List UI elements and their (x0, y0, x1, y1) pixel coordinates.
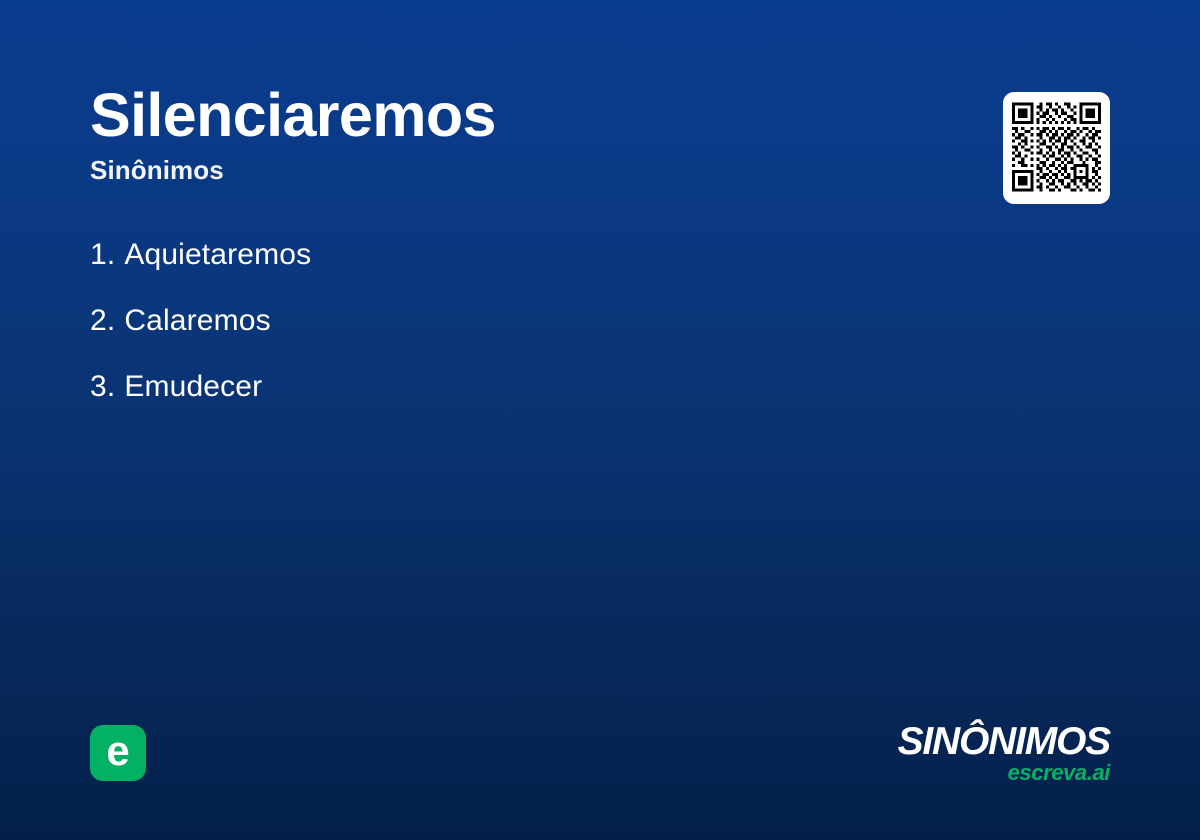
list-item-index: 2. (90, 304, 115, 338)
list-item-label: Aquietaremos (124, 238, 311, 272)
list-item: 2. Calaremos (90, 304, 890, 370)
list-item-label: Calaremos (124, 304, 270, 338)
synonyms-card: Silenciaremos Sinônimos 1. Aquietaremos … (0, 0, 1200, 840)
brand-domain: escreva.ai (898, 762, 1110, 784)
qr-code-icon (1012, 101, 1101, 193)
list-item-index: 1. (90, 238, 115, 272)
list-item-index: 3. (90, 370, 115, 404)
list-item: 3. Emudecer (90, 370, 890, 436)
synonyms-list: 1. Aquietaremos 2. Calaremos 3. Emudecer (90, 238, 890, 436)
list-item-label: Emudecer (124, 370, 262, 404)
list-item: 1. Aquietaremos (90, 238, 890, 304)
escreva-logo-letter: e (106, 730, 129, 772)
escreva-logo-badge[interactable]: e (90, 725, 146, 781)
brand-name: SINÔNIMOS (898, 722, 1110, 761)
page-title: Silenciaremos (90, 84, 950, 146)
qr-code-card[interactable] (1003, 92, 1110, 204)
brand-lockup[interactable]: SINÔNIMOS escreva.ai (898, 722, 1110, 784)
page-subtitle: Sinônimos (90, 155, 950, 186)
header: Silenciaremos Sinônimos (90, 84, 950, 186)
